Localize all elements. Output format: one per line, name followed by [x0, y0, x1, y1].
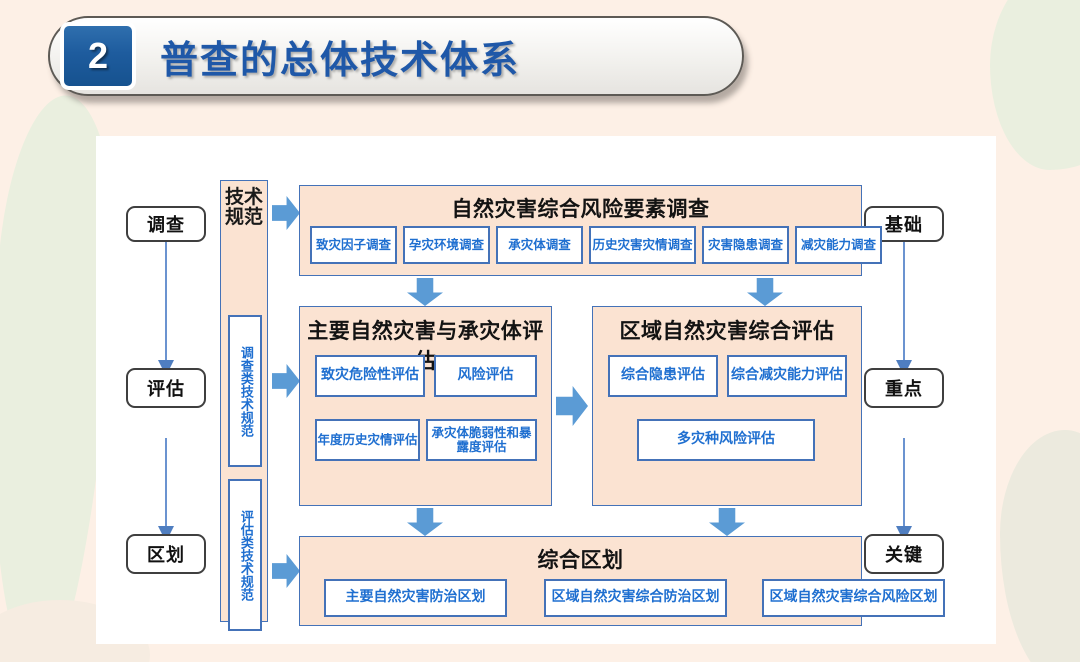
assessment-main-item-annual-history[interactable]: 年度历史灾情评估: [315, 419, 420, 461]
technical-spec-column[interactable]: 技术规范 调查类技术规范 评估类技术规范: [220, 180, 268, 622]
stage-label-survey[interactable]: 调查: [126, 206, 206, 242]
survey-item-exposure[interactable]: 承灾体调查: [496, 226, 583, 264]
zoning-item-major-disaster-prevention[interactable]: 主要自然灾害防治区划: [324, 579, 507, 617]
spec-sub-assessment[interactable]: 评估类技术规范: [228, 479, 262, 631]
technical-spec-title: 技术规范: [221, 187, 267, 227]
assessment-main-item-hazard-risk[interactable]: 致灾危险性评估: [315, 355, 425, 397]
stage-label-zoning[interactable]: 区划: [126, 534, 206, 574]
background-blob-bottom-right: [1000, 430, 1080, 662]
panel-assessment-regional[interactable]: 区域自然灾害综合评估 综合隐患评估 综合减灾能力评估 多灾种风险评估: [592, 306, 862, 506]
panel-assessment-main[interactable]: 主要自然灾害与承灾体评估 致灾危险性评估 风险评估 年度历史灾情评估 承灾体脆弱…: [299, 306, 552, 506]
page-title: 普查的总体技术体系: [160, 16, 520, 96]
zoning-item-regional-comprehensive-risk[interactable]: 区域自然灾害综合风险区划: [762, 579, 945, 617]
diagram-canvas: 调查 评估 区划 基础 重点 关键 技术规范 调查类技术规范 评估类技术规范 自…: [96, 136, 996, 644]
survey-item-hazard-factor[interactable]: 致灾因子调查: [310, 226, 397, 264]
survey-item-mitigation-capacity[interactable]: 减灾能力调查: [795, 226, 882, 264]
panel-survey-title: 自然灾害综合风险要素调查: [300, 193, 861, 223]
assessment-regional-item-hidden-danger[interactable]: 综合隐患评估: [608, 355, 718, 397]
assessment-main-item-risk[interactable]: 风险评估: [434, 355, 537, 397]
panel-assessment-regional-title: 区域自然灾害综合评估: [593, 315, 861, 345]
survey-item-hidden-danger[interactable]: 灾害隐患调查: [702, 226, 789, 264]
stage-label-focus[interactable]: 重点: [864, 368, 944, 408]
assessment-regional-item-multi-hazard-risk[interactable]: 多灾种风险评估: [637, 419, 815, 461]
stage-label-key[interactable]: 关键: [864, 534, 944, 574]
panel-survey[interactable]: 自然灾害综合风险要素调查 致灾因子调查 孕灾环境调查 承灾体调查 历史灾害灾情调…: [299, 185, 862, 276]
spec-sub-survey[interactable]: 调查类技术规范: [228, 315, 262, 467]
background-blob-top-right: [990, 0, 1080, 170]
assessment-main-item-vulnerability-exposure[interactable]: 承灾体脆弱性和暴露度评估: [426, 419, 537, 461]
survey-item-historical-disaster[interactable]: 历史灾害灾情调查: [589, 226, 696, 264]
panel-zoning-title: 综合区划: [300, 544, 861, 574]
panel-zoning[interactable]: 综合区划 主要自然灾害防治区划 区域自然灾害综合防治区划 区域自然灾害综合风险区…: [299, 536, 862, 626]
zoning-item-regional-comprehensive-prevention[interactable]: 区域自然灾害综合防治区划: [544, 579, 727, 617]
slide-header-banner: 2 普查的总体技术体系: [48, 16, 744, 96]
section-number-badge: 2: [60, 22, 136, 90]
stage-label-assessment[interactable]: 评估: [126, 368, 206, 408]
assessment-regional-item-mitigation-capacity[interactable]: 综合减灾能力评估: [727, 355, 847, 397]
survey-item-hazard-environment[interactable]: 孕灾环境调查: [403, 226, 490, 264]
